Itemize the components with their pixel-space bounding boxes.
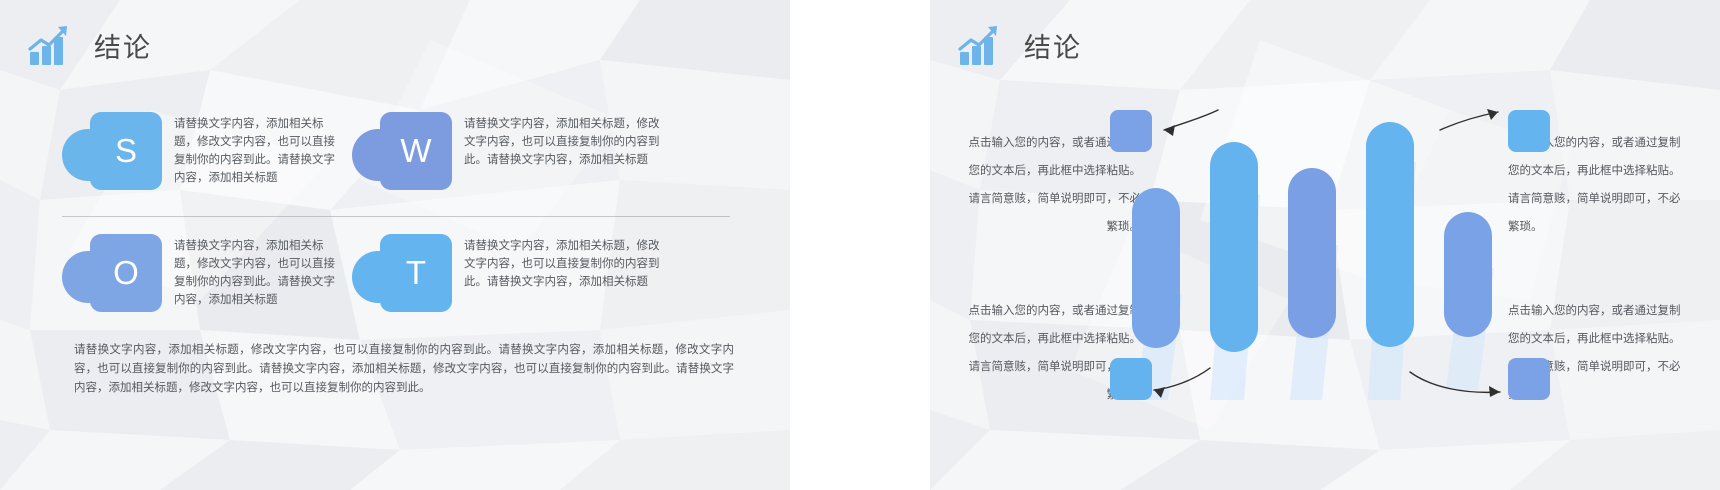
slide-header: 结论: [28, 24, 152, 66]
bar-4: [1366, 122, 1414, 347]
bar-chart-graphic[interactable]: [1110, 100, 1550, 410]
slide-chart[interactable]: 结论 点击输入您的内容，或者通过复制您的文本后，再此框中选择粘贴。请言简意赅，简…: [930, 0, 1720, 490]
page-title: 结论: [94, 26, 152, 65]
slide-swot[interactable]: 结论 S 请替换文字内容，添加相关标题，修改文字内容，也可以直接复制你的内容到此…: [0, 0, 790, 490]
footnote-paragraph: 请替换文字内容，添加相关标题，修改文字内容，也可以直接复制你的内容到此。请替换文…: [74, 340, 734, 397]
arrowhead-bottom-right: [1489, 386, 1500, 397]
swot-row-top: S 请替换文字内容，添加相关标题，修改文字内容，也可以直接复制你的内容到此。请替…: [0, 108, 790, 218]
corner-marker-top-left: [1110, 110, 1152, 152]
swot-item-w[interactable]: W 请替换文字内容，添加相关标题，修改文字内容，也可以直接复制你的内容到此。请替…: [340, 108, 740, 218]
corner-marker-bottom-right: [1508, 358, 1550, 400]
swot-row-bottom: O 请替换文字内容，添加相关标题，修改文字内容，也可以直接复制你的内容到此。请替…: [0, 230, 790, 340]
slide-header-2: 结论: [958, 24, 1082, 66]
bar-chart-arrow-icon: [958, 24, 1004, 66]
badge-letter-w: W: [380, 112, 452, 190]
page-title-2: 结论: [1024, 26, 1082, 65]
bar-5: [1444, 212, 1492, 337]
swot-text-w: 请替换文字内容，添加相关标题，修改文字内容，也可以直接复制你的内容到此。请替换文…: [464, 108, 660, 168]
swot-item-t[interactable]: T 请替换文字内容，添加相关标题，修改文字内容，也可以直接复制你的内容到此。请替…: [340, 230, 740, 340]
corner-marker-top-right: [1508, 110, 1550, 152]
slide-gutter: [790, 0, 930, 490]
corner-marker-bottom-left: [1110, 358, 1152, 400]
swot-item-s[interactable]: S 请替换文字内容，添加相关标题，修改文字内容，也可以直接复制你的内容到此。请替…: [0, 108, 340, 218]
swot-grid: S 请替换文字内容，添加相关标题，修改文字内容，也可以直接复制你的内容到此。请替…: [0, 100, 790, 350]
bar-2: [1210, 142, 1258, 352]
bar-1: [1132, 188, 1180, 348]
bar-3: [1288, 168, 1336, 338]
swot-badge-t: T: [352, 234, 452, 312]
horizontal-divider: [62, 216, 730, 217]
arrowhead-top-left: [1164, 125, 1175, 136]
swot-badge-o: O: [62, 234, 162, 312]
swot-badge-w: W: [352, 112, 452, 190]
swot-item-o[interactable]: O 请替换文字内容，添加相关标题，修改文字内容，也可以直接复制你的内容到此。请替…: [0, 230, 340, 340]
swot-text-s: 请替换文字内容，添加相关标题，修改文字内容，也可以直接复制你的内容到此。请替换文…: [174, 108, 340, 186]
badge-letter-s: S: [90, 112, 162, 190]
slide-deck: 结论 S 请替换文字内容，添加相关标题，修改文字内容，也可以直接复制你的内容到此…: [0, 0, 1720, 490]
badge-letter-o: O: [90, 234, 162, 312]
swot-text-o: 请替换文字内容，添加相关标题，修改文字内容，也可以直接复制你的内容到此。请替换文…: [174, 230, 340, 308]
swot-badge-s: S: [62, 112, 162, 190]
badge-letter-t: T: [380, 234, 452, 312]
swot-text-t: 请替换文字内容，添加相关标题，修改文字内容，也可以直接复制你的内容到此。请替换文…: [464, 230, 660, 290]
bar-chart-arrow-icon: [28, 24, 74, 66]
